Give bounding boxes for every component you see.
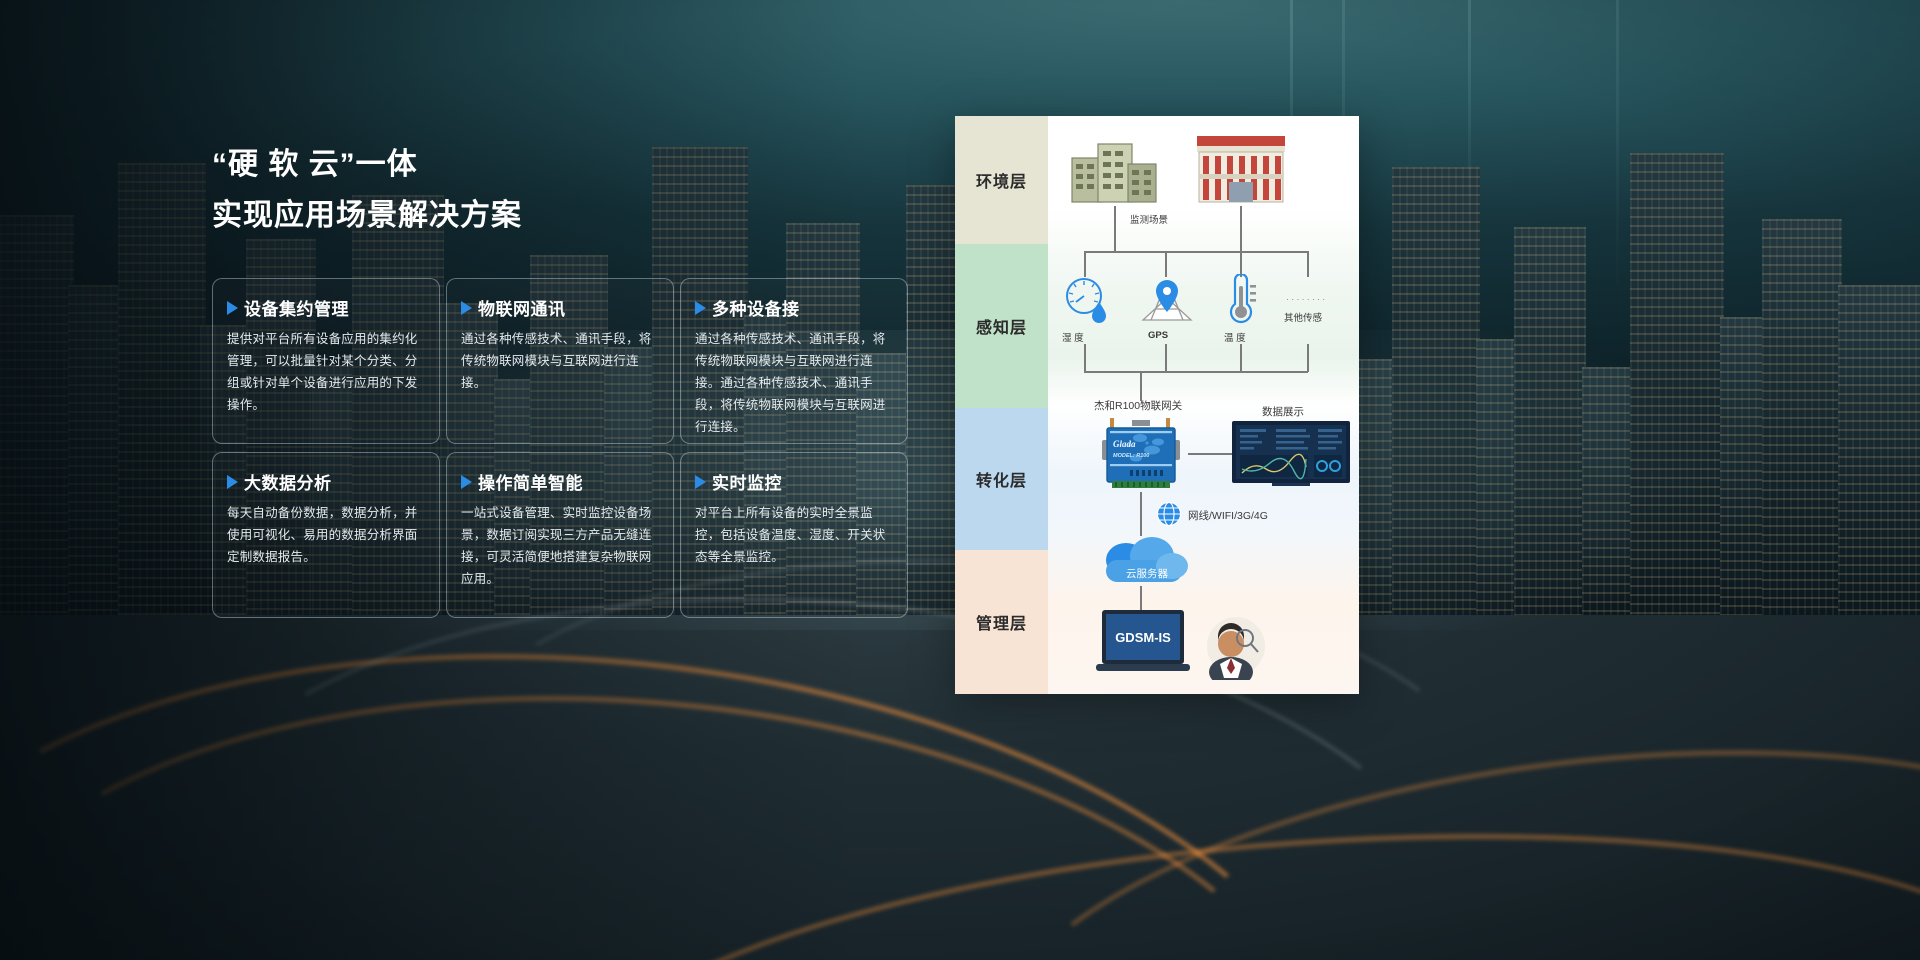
connector-line [1240, 206, 1242, 252]
data-display-label: 数据展示 [1262, 404, 1304, 419]
connector-line [1140, 371, 1142, 401]
feature-card-body: 通过各种传感技术、通讯手段，将传统物联网模块与互联网进行连接。通过各种传感技术、… [695, 329, 891, 438]
feature-card-multi-device-access[interactable]: 多种设备接 通过各种传感技术、通讯手段，将传统物联网模块与互联网进行连接。通过各… [680, 278, 908, 444]
network-label: 网线/WIFI/3G/4G [1188, 508, 1268, 523]
feature-card-realtime-monitoring[interactable]: 实时监控 对平台上所有设备的实时全景监控，包括设备温度、湿度、开关状态等全景监控… [680, 452, 908, 618]
connector-line [1165, 251, 1167, 277]
layer-label: 环境层 [976, 168, 1027, 192]
other-sensor-label: 其他传感 [1284, 310, 1322, 324]
feature-card-title: 大数据分析 [244, 469, 332, 494]
layer-label: 感知层 [976, 314, 1027, 338]
feature-card-title: 操作简单智能 [478, 469, 583, 494]
feature-card-header: 设备集约管理 [227, 295, 423, 320]
gps-pin-map-icon [1140, 278, 1194, 328]
triangle-bullet-icon [695, 301, 706, 315]
page-title: “硬 软 云”一体 实现应用场景解决方案 [212, 142, 852, 238]
platform-label: GDSM-IS [1115, 630, 1171, 645]
dashboard-screen-icon[interactable] [1232, 421, 1350, 487]
globe-network-icon [1156, 501, 1182, 527]
layer-perception: 感知层 [955, 244, 1048, 408]
connector-line [1307, 344, 1309, 372]
layer-environment: 环境层 [955, 116, 1048, 244]
cloud-server-label: 云服务器 [1126, 567, 1168, 580]
connector-line [1084, 251, 1308, 253]
connector-line [1307, 251, 1309, 277]
connector-line [1084, 371, 1308, 373]
feature-card-body: 提供对平台所有设备应用的集约化管理，可以批量针对某个分类、分组或针对单个设备进行… [227, 329, 423, 417]
connector-line [1188, 453, 1232, 455]
feature-card-big-data-analysis[interactable]: 大数据分析 每天自动备份数据，数据分析，并使用可视化、易用的数据分析界面定制数据… [212, 452, 440, 618]
humidity-label: 湿 度 [1062, 330, 1084, 344]
connector-line [1140, 586, 1142, 612]
layer-conversion: 转化层 [955, 408, 1048, 550]
feature-card-header: 操作简单智能 [461, 469, 657, 494]
operator-avatar-icon [1198, 614, 1268, 680]
diagram-canvas: 监测场景 湿 度 [1048, 116, 1359, 694]
feature-card-title: 设备集约管理 [244, 295, 349, 320]
device-brand-text: Glada [1113, 439, 1136, 449]
layer-legend-column: 环境层 感知层 转化层 管理层 [955, 116, 1048, 694]
connector-line [1114, 206, 1116, 252]
cloud-server-icon: 云服务器 [1096, 534, 1192, 588]
triangle-bullet-icon [695, 475, 706, 489]
scene-label: 监测场景 [1130, 212, 1168, 226]
feature-card-header: 物联网通讯 [461, 295, 657, 320]
connector-line [1165, 344, 1167, 372]
headline-line-1: “硬 软 云”一体 [212, 142, 852, 187]
connector-line [1240, 344, 1242, 372]
feature-card-body: 通过各种传感技术、通讯手段，将传统物联网模块与互联网进行连接。 [461, 329, 657, 395]
feature-card-body: 一站式设备管理、实时监控设备场景，数据订阅实现三方产品无缝连接，可灵活简便地搭建… [461, 503, 657, 591]
triangle-bullet-icon [461, 301, 472, 315]
other-sensor-dots: ········ [1286, 294, 1327, 305]
feature-card-grid: 设备集约管理 提供对平台所有设备应用的集约化管理，可以批量针对某个分类、分组或针… [212, 278, 912, 618]
feature-card-body: 对平台上所有设备的实时全景监控，包括设备温度、湿度、开关状态等全景监控。 [695, 503, 891, 569]
gateway-label: 杰和R100物联网关 [1094, 398, 1182, 413]
triangle-bullet-icon [227, 301, 238, 315]
laptop-platform-icon[interactable]: GDSM-IS [1096, 610, 1190, 676]
layer-management: 管理层 [955, 550, 1048, 694]
iot-gateway-device-icon[interactable]: Glada MODEL: R100 [1096, 416, 1188, 492]
feature-card-device-management[interactable]: 设备集约管理 提供对平台所有设备应用的集约化管理，可以批量针对某个分类、分组或针… [212, 278, 440, 444]
storefront-building-icon [1193, 134, 1289, 206]
triangle-bullet-icon [227, 475, 238, 489]
feature-card-header: 多种设备接 [695, 295, 891, 320]
thermometer-icon [1223, 274, 1263, 328]
headline-line-2: 实现应用场景解决方案 [212, 193, 852, 238]
connector-line [1084, 251, 1086, 277]
feature-card-title: 物联网通讯 [478, 295, 566, 320]
feature-card-iot-communication[interactable]: 物联网通讯 通过各种传感技术、通讯手段，将传统物联网模块与互联网进行连接。 [446, 278, 674, 444]
feature-card-body: 每天自动备份数据，数据分析，并使用可视化、易用的数据分析界面定制数据报告。 [227, 503, 423, 569]
feature-card-simple-smart-operation[interactable]: 操作简单智能 一站式设备管理、实时监控设备场景，数据订阅实现三方产品无缝连接，可… [446, 452, 674, 618]
connector-line [1084, 344, 1086, 372]
device-model-text: MODEL: R100 [1113, 453, 1149, 459]
triangle-bullet-icon [461, 475, 472, 489]
office-building-icon [1070, 138, 1160, 204]
layer-label: 转化层 [976, 467, 1027, 491]
humidity-gauge-icon [1062, 276, 1112, 326]
feature-card-title: 实时监控 [712, 469, 782, 494]
feature-card-title: 多种设备接 [712, 295, 800, 320]
architecture-diagram-panel: 环境层 感知层 转化层 管理层 [955, 116, 1359, 694]
gps-label: GPS [1148, 330, 1168, 341]
feature-card-header: 大数据分析 [227, 469, 423, 494]
temperature-label: 温 度 [1224, 330, 1246, 344]
connector-line [1140, 492, 1142, 536]
layer-label: 管理层 [976, 610, 1027, 634]
feature-card-header: 实时监控 [695, 469, 891, 494]
